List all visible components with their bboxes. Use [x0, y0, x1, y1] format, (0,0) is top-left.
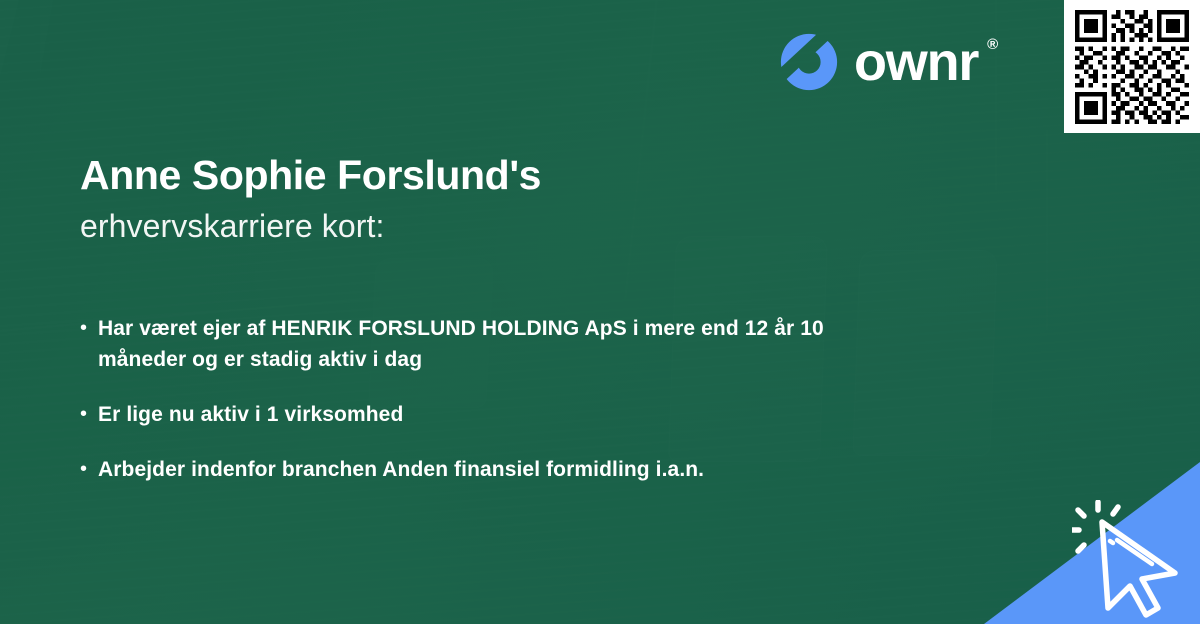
registered-trademark-icon: ® — [987, 37, 998, 52]
list-item-line1: Har været ejer af HENRIK FORSLUND HOLDIN… — [98, 317, 739, 340]
list-item: • Har været ejer af HENRIK FORSLUND HOLD… — [80, 313, 980, 375]
qr-code-icon — [1075, 10, 1189, 124]
list-item-label: Er lige nu aktiv i 1 virksomhed — [98, 399, 403, 430]
bullet-dot-icon: • — [80, 399, 98, 430]
bullet-dot-icon: • — [80, 454, 98, 485]
brand-logo[interactable]: ownr® — [778, 31, 998, 93]
brand-wordmark: ownr® — [854, 35, 998, 89]
page-subtitle: erhvervskarriere kort: — [80, 207, 385, 245]
career-summary-list: • Har været ejer af HENRIK FORSLUND HOLD… — [80, 313, 980, 485]
promo-card: ownr® — [0, 0, 1200, 624]
qr-code[interactable] — [1064, 0, 1200, 133]
click-cursor-icon — [1072, 500, 1192, 620]
brand-name-text: ownr — [854, 32, 978, 92]
list-item-label: Har været ejer af HENRIK FORSLUND HOLDIN… — [98, 313, 908, 375]
card-content: ownr® — [0, 0, 1200, 624]
bullet-dot-icon: • — [80, 313, 98, 344]
list-item: • Arbejder indenfor branchen Anden finan… — [80, 454, 980, 485]
list-item-label: Arbejder indenfor branchen Anden finansi… — [98, 454, 704, 485]
list-item: • Er lige nu aktiv i 1 virksomhed — [80, 399, 980, 430]
page-title: Anne Sophie Forslund's — [80, 152, 541, 199]
ownr-circle-logo-icon — [778, 31, 840, 93]
